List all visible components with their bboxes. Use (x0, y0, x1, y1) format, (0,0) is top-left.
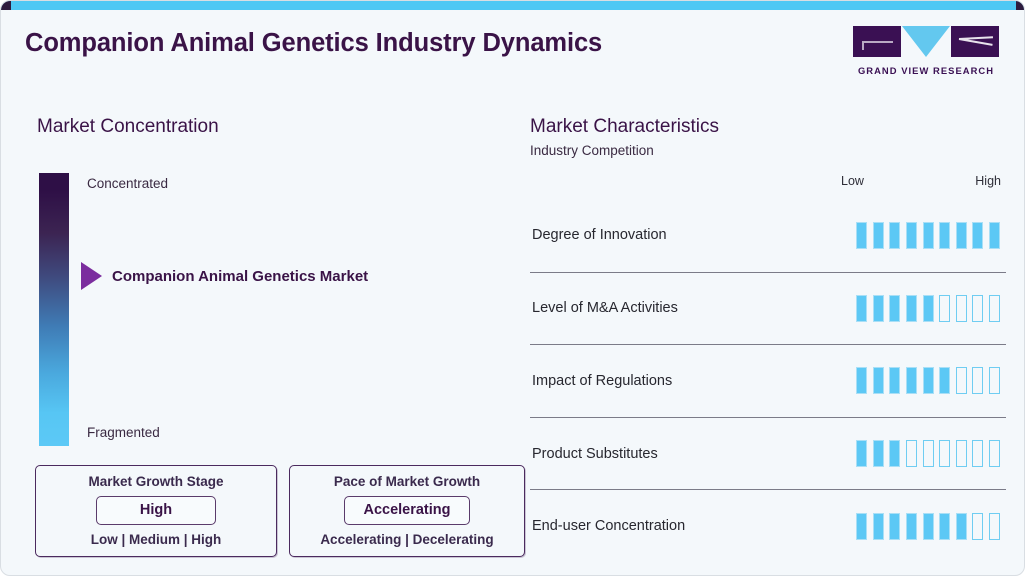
bar-segment-filled (906, 295, 917, 322)
bar-segment-empty (939, 440, 950, 467)
bar-segment-filled (906, 367, 917, 394)
bar-segment-filled (856, 222, 867, 249)
characteristic-bar-group (856, 222, 1006, 249)
characteristic-row: End-user Concentration (530, 489, 1006, 562)
bar-segment-filled (972, 222, 983, 249)
characteristic-label: Product Substitutes (530, 446, 658, 462)
scale-header: Low High (841, 174, 1001, 188)
bar-segment-empty (923, 440, 934, 467)
characteristic-bar-group (856, 367, 1006, 394)
bar-segment-empty (939, 295, 950, 322)
bar-segment-filled (873, 513, 884, 540)
market-characteristics-title: Market Characteristics (530, 116, 719, 138)
bar-segment-empty (956, 440, 967, 467)
bar-segment-filled (889, 295, 900, 322)
bar-segment-filled (889, 222, 900, 249)
bar-segment-filled (873, 222, 884, 249)
characteristics-rows: Degree of InnovationLevel of M&A Activit… (530, 199, 1006, 562)
bar-segment-filled (873, 367, 884, 394)
top-accent-bar (1, 1, 1025, 10)
logo-r-icon (951, 26, 999, 57)
page-title: Companion Animal Genetics Industry Dynam… (25, 29, 602, 58)
bar-segment-empty (989, 440, 1000, 467)
bar-segment-filled (956, 222, 967, 249)
characteristic-row: Product Substitutes (530, 417, 1006, 490)
characteristic-label: End-user Concentration (530, 518, 685, 534)
bar-segment-filled (923, 513, 934, 540)
scale-high-label: High (975, 174, 1001, 188)
bar-segment-filled (956, 513, 967, 540)
bar-segment-filled (989, 222, 1000, 249)
market-growth-stage-value: High (96, 496, 216, 525)
bar-segment-filled (939, 367, 950, 394)
bar-segment-empty (956, 295, 967, 322)
header: Companion Animal Genetics Industry Dynam… (1, 10, 1025, 92)
bar-segment-filled (873, 440, 884, 467)
bar-segment-filled (889, 367, 900, 394)
pace-of-market-growth-box: Pace of Market Growth Accelerating Accel… (289, 465, 525, 557)
pace-of-market-growth-title: Pace of Market Growth (302, 474, 512, 489)
bar-segment-filled (856, 295, 867, 322)
marker-arrow-icon (81, 262, 102, 290)
pace-of-market-growth-value: Accelerating (344, 496, 469, 525)
market-growth-stage-title: Market Growth Stage (48, 474, 264, 489)
bar-segment-filled (939, 513, 950, 540)
characteristic-bar-group (856, 295, 1006, 322)
characteristic-label: Impact of Regulations (530, 373, 672, 389)
bar-segment-empty (972, 440, 983, 467)
bar-segment-filled (906, 513, 917, 540)
characteristic-row: Level of M&A Activities (530, 272, 1006, 345)
logo-marks (853, 26, 999, 58)
characteristic-label: Level of M&A Activities (530, 300, 678, 316)
bar-segment-filled (923, 295, 934, 322)
gradient-top-label: Concentrated (87, 176, 168, 191)
bar-segment-empty (906, 440, 917, 467)
characteristic-bar-group (856, 513, 1006, 540)
bar-segment-filled (923, 367, 934, 394)
characteristic-label: Degree of Innovation (530, 227, 667, 243)
stat-boxes: Market Growth Stage High Low | Medium | … (35, 465, 525, 557)
scale-low-label: Low (841, 174, 864, 188)
logo-g-icon (853, 26, 901, 57)
brand-logo: GRAND VIEW RESEARCH (853, 26, 999, 76)
market-position-label: Companion Animal Genetics Market (112, 268, 368, 285)
bar-segment-filled (889, 440, 900, 467)
concentration-gradient-scale (39, 173, 69, 446)
market-position-marker: Companion Animal Genetics Market (81, 262, 368, 290)
market-concentration-panel: Market Concentration Concentrated Fragme… (1, 101, 521, 576)
characteristic-row: Degree of Innovation (530, 199, 1006, 272)
bar-segment-filled (923, 222, 934, 249)
bar-segment-empty (956, 367, 967, 394)
market-characteristics-subtitle: Industry Competition (530, 143, 654, 158)
bar-segment-empty (972, 513, 983, 540)
bar-segment-filled (889, 513, 900, 540)
characteristic-row: Impact of Regulations (530, 344, 1006, 417)
bar-segment-filled (873, 295, 884, 322)
bar-segment-filled (856, 367, 867, 394)
bar-segment-empty (989, 295, 1000, 322)
gradient-bottom-label: Fragmented (87, 425, 160, 440)
bar-segment-empty (972, 367, 983, 394)
bar-segment-filled (856, 440, 867, 467)
concentration-gradient-bar (39, 173, 69, 446)
bar-segment-empty (972, 295, 983, 322)
bar-segment-filled (856, 513, 867, 540)
characteristic-bar-group (856, 440, 1006, 467)
bar-segment-filled (906, 222, 917, 249)
bar-segment-empty (989, 513, 1000, 540)
pace-of-market-growth-scale: Accelerating | Decelerating (302, 532, 512, 547)
logo-wordmark: GRAND VIEW RESEARCH (853, 65, 999, 76)
infographic-root: Companion Animal Genetics Industry Dynam… (0, 0, 1025, 576)
bar-segment-filled (939, 222, 950, 249)
market-growth-stage-scale: Low | Medium | High (48, 532, 264, 547)
market-growth-stage-box: Market Growth Stage High Low | Medium | … (35, 465, 277, 557)
bar-segment-empty (989, 367, 1000, 394)
market-concentration-title: Market Concentration (37, 116, 219, 138)
market-characteristics-panel: Market Characteristics Industry Competit… (521, 101, 1025, 576)
logo-v-triangle-icon (902, 26, 950, 57)
